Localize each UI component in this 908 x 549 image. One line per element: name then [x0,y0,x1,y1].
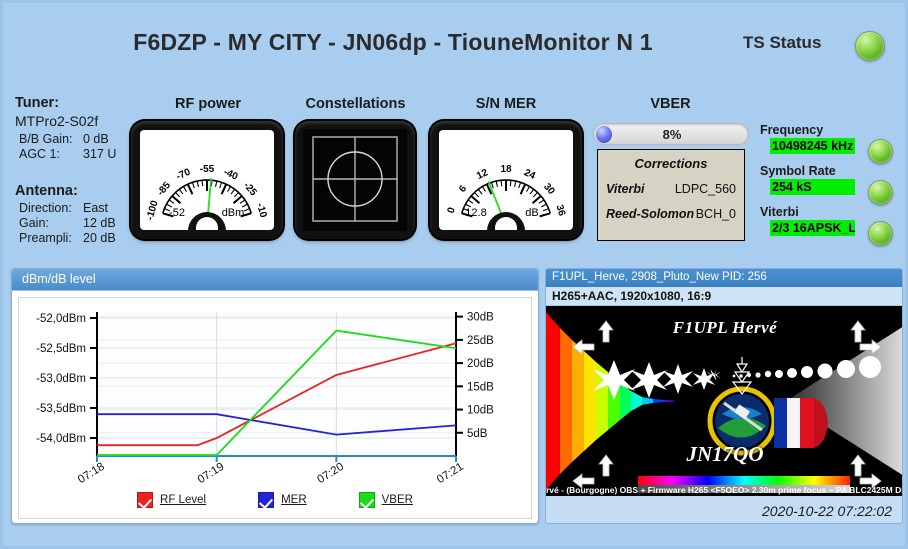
svg-text:36: 36 [553,204,567,218]
corrections-row-reed-solomon: Reed-Solomon BCH_0 [598,207,744,221]
corrections-row-viterbi: Viterbi LDPC_560 [598,182,744,196]
corrections-title: Corrections [598,156,744,171]
svg-text:30dB: 30dB [467,312,494,324]
legend-item-vber[interactable]: VBER [359,492,413,508]
header-bar: F6DZP - MY CITY - JN06dp - TiouneMonitor… [3,3,905,81]
svg-text:dBm: dBm [222,207,245,219]
frequency-value: 10498245 kHz [770,138,855,154]
legend-item-rf-level[interactable]: RF Level [137,492,206,508]
svg-text:07:21: 07:21 [435,461,466,486]
tuner-row-agc: AGC 1: 317 U [15,147,135,162]
corrections-reed-solomon-key: Reed-Solomon [606,207,694,221]
vber-percent-label: 8% [594,124,750,145]
constellation-display [295,121,415,239]
ts-status-label: TS Status [743,33,821,53]
svg-text:24: 24 [522,167,537,182]
svg-text:-25: -25 [241,180,259,198]
svg-text:-53,5dBm: -53,5dBm [36,403,86,415]
rf-power-heading: RF power [133,96,283,112]
legend-label: RF Level [160,494,206,506]
svg-text:0: 0 [446,206,458,215]
antenna-direction-key: Direction: [19,201,83,216]
chart-canvas: -52,0dBm-52,5dBm-53,0dBm-53,5dBm-54,0dBm… [19,298,531,518]
svg-text:12.8: 12.8 [465,207,486,219]
legend-label: VBER [382,494,413,506]
viterbi-label: Viterbi [760,205,855,219]
viterbi-readout: Viterbi 2/3 16APSK_L3 [760,205,855,241]
rf-power-meter: -100-85-70-55-40-25-10-52dBm [131,121,283,239]
ts-status-led [855,31,885,61]
symbol-rate-readout: Symbol Rate 254 kS [760,164,855,200]
svg-text:-100: -100 [145,199,161,222]
svg-text:-54,0dBm: -54,0dBm [36,433,86,445]
svg-text:-70: -70 [175,166,193,182]
video-format-info: H265+AAC, 1920x1080, 16:9 [546,287,902,306]
svg-text:5dB: 5dB [467,428,488,440]
chart-legend: RF LevelMERVBER [19,492,531,508]
constellations-heading: Constellations [293,96,418,112]
svg-text:-85: -85 [155,180,173,198]
corrections-viterbi-value: LDPC_560 [675,182,736,196]
svg-text:dB: dB [525,207,538,219]
svg-text:-52,0dBm: -52,0dBm [36,313,86,325]
chart-plot-area: -52,0dBm-52,5dBm-53,0dBm-53,5dBm-54,0dBm… [18,297,532,519]
vber-heading: VBER [603,96,738,112]
snr-mer-meter: 06121824303612.8dB [430,121,582,239]
corrections-reed-solomon-value: BCH_0 [696,207,736,221]
vber-progress-bar: 8% [593,123,749,145]
tuner-info-block: Tuner: MTPro2-S02f B/B Gain: 0 dB AGC 1:… [15,95,135,162]
antenna-preampli-value: 20 dB [83,231,135,246]
video-ticker-text: rvé - (Bourgogne) OBS + Firmware H265 <F… [546,485,903,495]
tuner-row-bbgain: B/B Gain: 0 dB [15,132,135,147]
video-title: F1UPL_Herve, 2908_Pluto_New PID: 256 [546,269,902,287]
svg-text:-52,5dBm: -52,5dBm [36,343,86,355]
symbol-rate-status-led [868,180,893,205]
svg-text:-52: -52 [169,207,185,219]
symbol-rate-label: Symbol Rate [760,164,855,178]
legend-checkbox-vber[interactable] [359,492,375,508]
svg-text:10dB: 10dB [467,405,494,417]
svg-text:20dB: 20dB [467,358,494,370]
antenna-gain-value: 12 dB [83,216,135,231]
tuner-bbgain-key: B/B Gain: [19,132,83,147]
video-preview-panel: F1UPL_Herve, 2908_Pluto_New PID: 256 H26… [545,268,903,524]
tuner-agc-key: AGC 1: [19,147,83,162]
symbol-rate-value: 254 kS [770,179,855,195]
svg-text:07:20: 07:20 [315,461,346,486]
corrections-viterbi-key: Viterbi [606,182,644,196]
legend-label: MER [281,494,307,506]
frequency-status-led [868,139,893,164]
application-window: F6DZP - MY CITY - JN06dp - TiouneMonitor… [0,0,908,549]
corrections-panel: Corrections Viterbi LDPC_560 Reed-Solomo… [597,149,745,241]
antenna-info-block: Antenna: Direction: East Gain: 12 dB Pre… [15,183,135,246]
svg-text:15dB: 15dB [467,381,494,393]
tuner-bbgain-value: 0 dB [83,132,135,147]
svg-text:18: 18 [500,164,512,175]
svg-text:-40: -40 [222,167,240,183]
rf-meter-face: -100-85-70-55-40-25-10-52dBm [140,130,274,230]
chart-title: dBm/dB level [12,269,538,291]
svg-text:12: 12 [475,167,490,182]
frequency-label: Frequency [760,123,855,137]
svg-text:-10: -10 [254,202,269,219]
svg-text:-55: -55 [200,164,215,175]
frequency-readout: Frequency 10498245 kHz [760,123,855,159]
svg-text:07:19: 07:19 [196,461,227,486]
constellation-grid-icon [303,129,407,231]
legend-checkbox-rf-level[interactable] [137,492,153,508]
snr-mer-heading: S/N MER [431,96,581,112]
legend-item-mer[interactable]: MER [258,492,307,508]
svg-text:30: 30 [541,181,557,197]
antenna-heading: Antenna: [15,183,135,199]
constellation-canvas [303,129,407,231]
svg-text:07:18: 07:18 [76,461,107,486]
viterbi-status-led [868,221,893,246]
video-frame: F1UPL Hervé JN17QO rvé - (Bourgogne) OBS… [546,306,903,496]
tuner-model: MTPro2-S02f [15,113,135,129]
antenna-row-direction: Direction: East [15,201,135,216]
video-callsign-overlay: F1UPL Hervé [546,318,903,338]
tuner-heading: Tuner: [15,95,135,111]
antenna-direction-value: East [83,201,135,216]
video-timestamp: 2020-10-22 07:22:02 [762,503,892,519]
antenna-row-gain: Gain: 12 dB [15,216,135,231]
svg-text:6: 6 [457,183,469,195]
tuner-agc-value: 317 U [83,147,135,162]
antenna-preampli-key: Preampli: [19,231,83,246]
video-locator-overlay: JN17QO [546,442,903,467]
viterbi-value: 2/3 16APSK_L3 [770,220,855,236]
antenna-gain-key: Gain: [19,216,83,231]
antenna-row-preampli: Preampli: 20 dB [15,231,135,246]
legend-checkbox-mer[interactable] [258,492,274,508]
level-chart-panel: dBm/dB level -52,0dBm-52,5dBm-53,0dBm-53… [11,268,539,524]
svg-text:25dB: 25dB [467,335,494,347]
svg-text:-53,0dBm: -53,0dBm [36,373,86,385]
mer-meter-face: 06121824303612.8dB [439,130,573,230]
page-title: F6DZP - MY CITY - JN06dp - TiouneMonitor… [83,29,703,56]
